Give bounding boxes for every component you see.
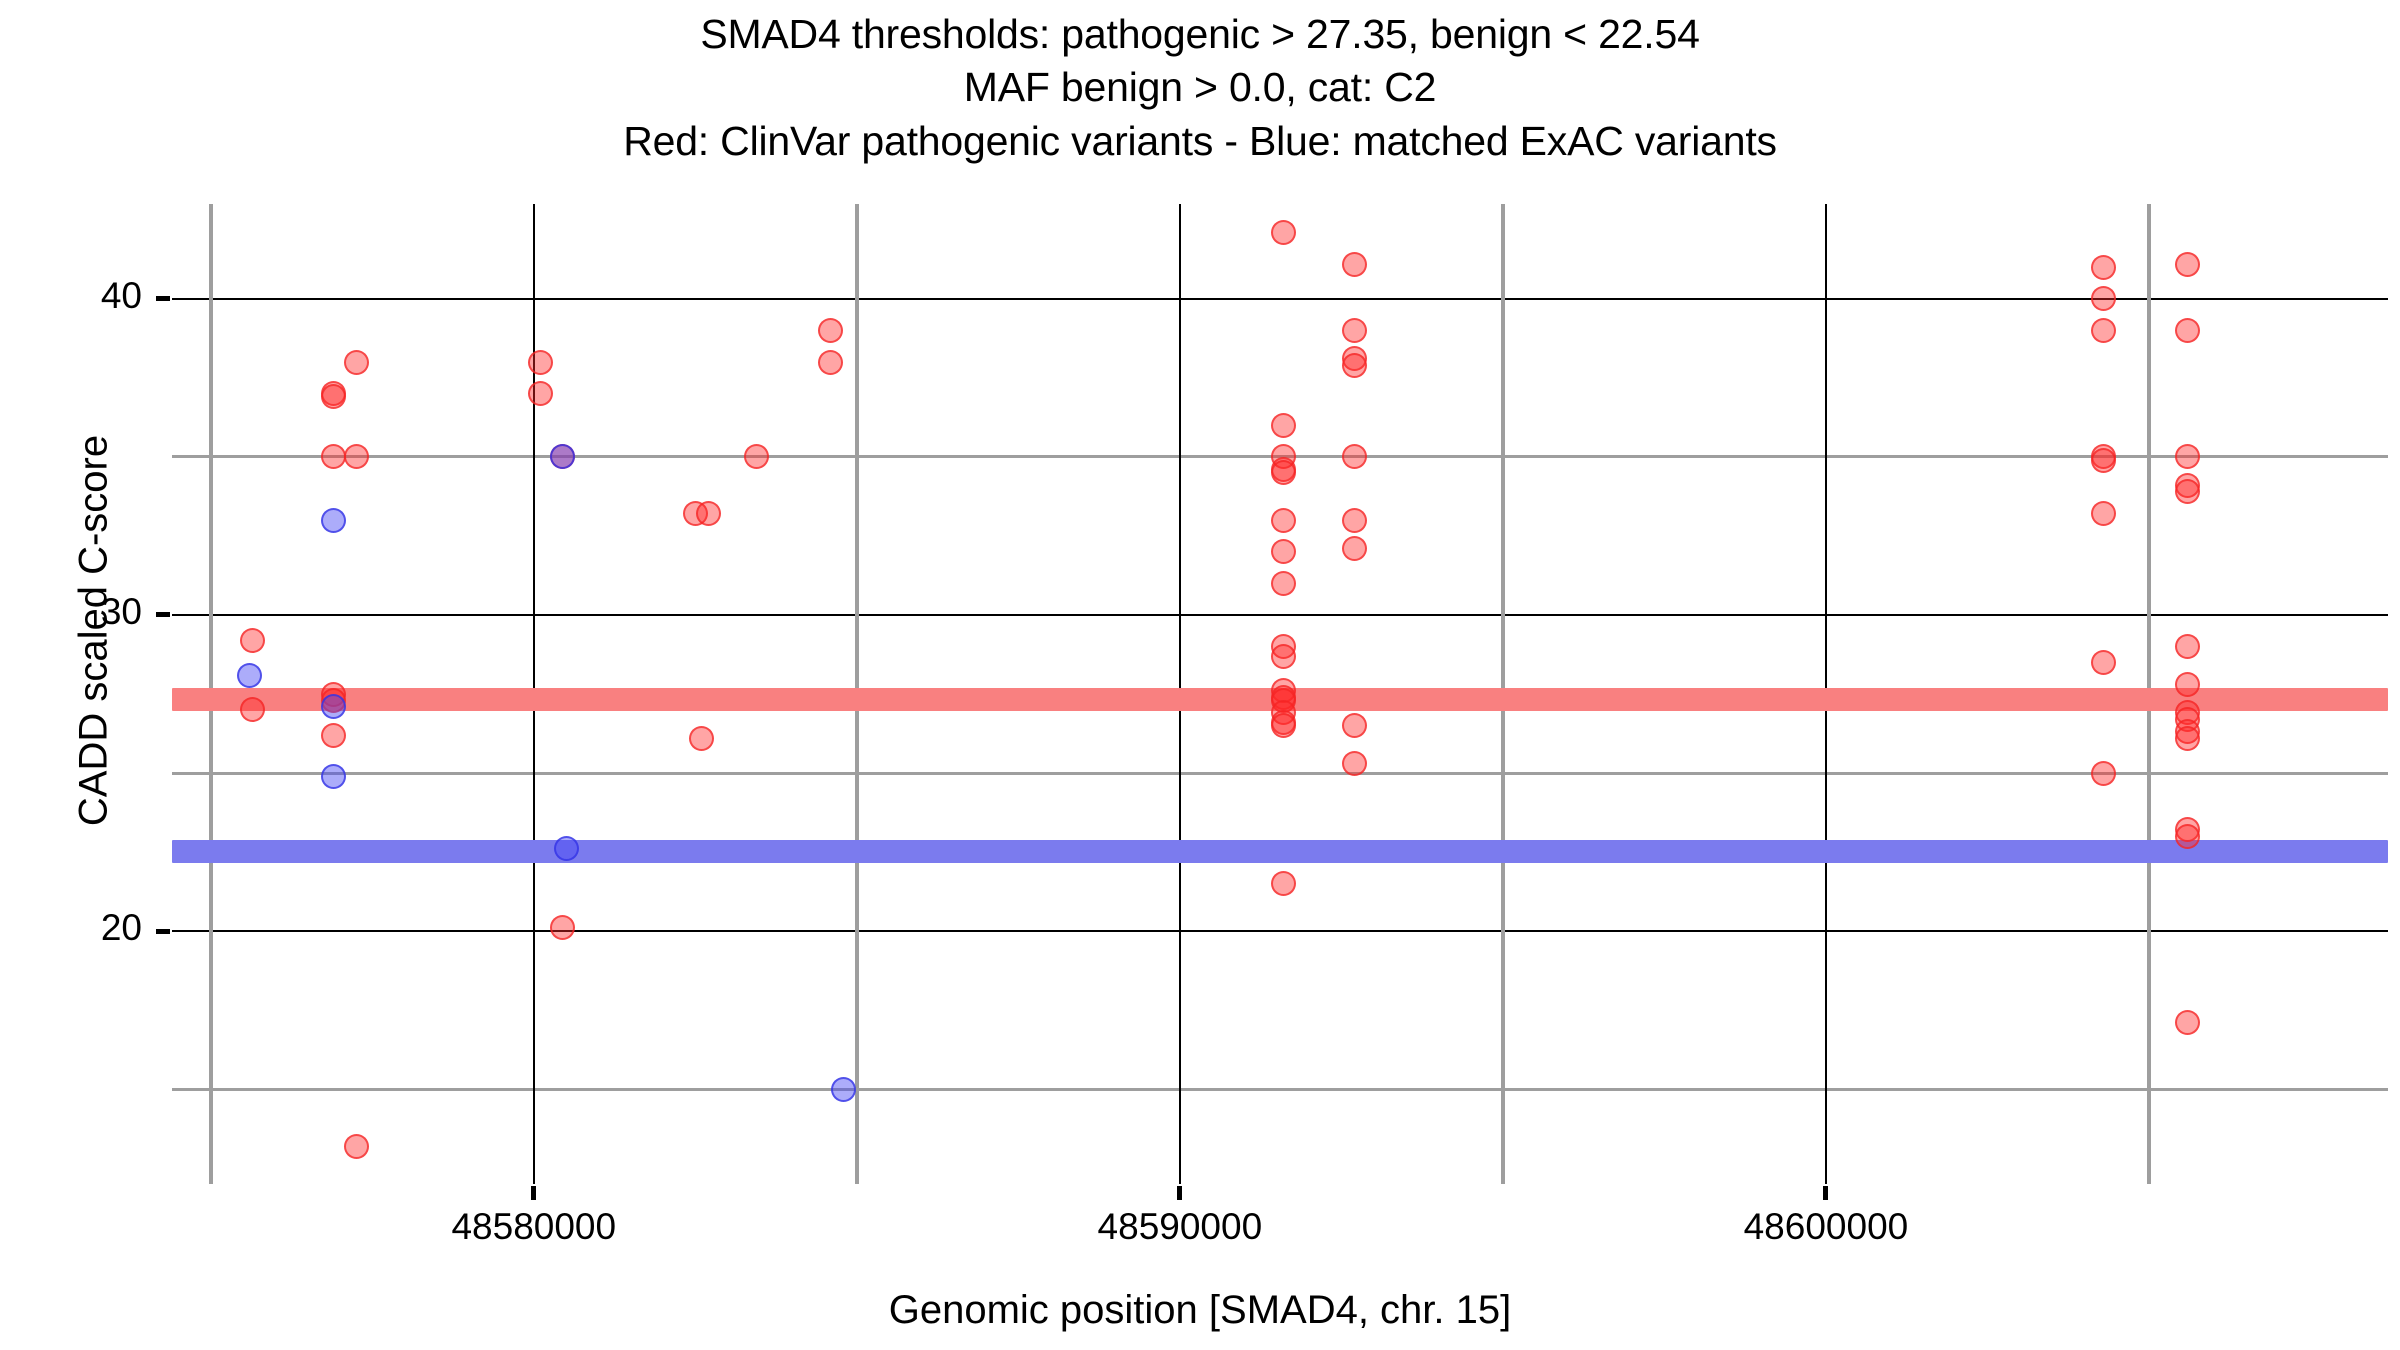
data-point-pathogenic[interactable] <box>1342 444 1367 469</box>
data-point-pathogenic[interactable] <box>1342 751 1367 776</box>
y-tick-label: 40 <box>0 275 142 317</box>
data-point-pathogenic[interactable] <box>2175 824 2200 849</box>
x-tick-mark <box>1177 1186 1182 1200</box>
y-tick-label: 20 <box>0 907 142 949</box>
data-point-pathogenic[interactable] <box>528 381 553 406</box>
gridline-major-y <box>172 614 2388 616</box>
y-tick-mark <box>156 612 170 617</box>
data-point-pathogenic[interactable] <box>1271 508 1296 533</box>
data-point-exac[interactable] <box>554 836 579 861</box>
data-point-pathogenic[interactable] <box>818 318 843 343</box>
data-point-pathogenic[interactable] <box>344 444 369 469</box>
data-point-exac[interactable] <box>321 694 346 719</box>
x-tick-label: 48580000 <box>374 1206 694 1248</box>
data-point-pathogenic[interactable] <box>2091 761 2116 786</box>
title-line-1: SMAD4 thresholds: pathogenic > 27.35, be… <box>0 8 2400 61</box>
y-tick-mark <box>156 929 170 934</box>
data-point-pathogenic[interactable] <box>744 444 769 469</box>
data-point-exac[interactable] <box>321 508 346 533</box>
data-point-pathogenic[interactable] <box>344 1134 369 1159</box>
data-point-exac[interactable] <box>550 444 575 469</box>
x-tick-label: 48600000 <box>1666 1206 1986 1248</box>
data-point-pathogenic[interactable] <box>1271 460 1296 485</box>
x-tick-mark <box>1823 1186 1828 1200</box>
data-point-pathogenic[interactable] <box>2175 318 2200 343</box>
data-point-pathogenic[interactable] <box>321 444 346 469</box>
data-point-pathogenic[interactable] <box>550 915 575 940</box>
data-point-pathogenic[interactable] <box>1271 713 1296 738</box>
gridline-minor-y <box>172 772 2388 775</box>
data-point-pathogenic[interactable] <box>1342 713 1367 738</box>
x-tick-label: 48590000 <box>1020 1206 1340 1248</box>
x-tick-mark <box>531 1186 536 1200</box>
data-point-pathogenic[interactable] <box>1271 413 1296 438</box>
data-point-pathogenic[interactable] <box>689 726 714 751</box>
x-axis-label: Genomic position [SMAD4, chr. 15] <box>0 1288 2400 1333</box>
data-point-pathogenic[interactable] <box>2175 479 2200 504</box>
data-point-exac[interactable] <box>321 764 346 789</box>
data-point-pathogenic[interactable] <box>1342 536 1367 561</box>
title-line-2: MAF benign > 0.0, cat: C2 <box>0 61 2400 114</box>
data-point-pathogenic[interactable] <box>1342 508 1367 533</box>
data-point-pathogenic[interactable] <box>528 350 553 375</box>
chart-figure: SMAD4 thresholds: pathogenic > 27.35, be… <box>0 0 2400 1350</box>
data-point-pathogenic[interactable] <box>818 350 843 375</box>
data-point-pathogenic[interactable] <box>2091 286 2116 311</box>
gridline-major-y <box>172 930 2388 932</box>
data-point-pathogenic[interactable] <box>1342 252 1367 277</box>
data-point-pathogenic[interactable] <box>696 501 721 526</box>
data-point-pathogenic[interactable] <box>1271 644 1296 669</box>
title-line-3: Red: ClinVar pathogenic variants - Blue:… <box>0 115 2400 168</box>
chart-title: SMAD4 thresholds: pathogenic > 27.35, be… <box>0 8 2400 168</box>
gridline-major-y <box>172 298 2388 300</box>
data-point-pathogenic[interactable] <box>344 350 369 375</box>
plot-area <box>172 204 2388 1184</box>
data-point-pathogenic[interactable] <box>2175 252 2200 277</box>
data-point-pathogenic[interactable] <box>2091 318 2116 343</box>
data-point-pathogenic[interactable] <box>2091 650 2116 675</box>
data-point-pathogenic[interactable] <box>240 628 265 653</box>
data-point-pathogenic[interactable] <box>1271 571 1296 596</box>
data-point-exac[interactable] <box>237 663 262 688</box>
data-point-pathogenic[interactable] <box>240 697 265 722</box>
y-tick-label: 30 <box>0 591 142 633</box>
y-tick-mark <box>156 296 170 301</box>
data-point-pathogenic[interactable] <box>2175 444 2200 469</box>
benign-threshold-band <box>172 840 2388 863</box>
data-point-pathogenic[interactable] <box>2091 255 2116 280</box>
data-point-pathogenic[interactable] <box>2175 634 2200 659</box>
data-point-exac[interactable] <box>831 1077 856 1102</box>
data-point-pathogenic[interactable] <box>1271 220 1296 245</box>
data-point-pathogenic[interactable] <box>1342 318 1367 343</box>
data-point-pathogenic[interactable] <box>1271 871 1296 896</box>
data-point-pathogenic[interactable] <box>1271 539 1296 564</box>
data-point-pathogenic[interactable] <box>2175 726 2200 751</box>
data-point-pathogenic[interactable] <box>321 384 346 409</box>
gridline-minor-y <box>172 1088 2388 1091</box>
data-point-pathogenic[interactable] <box>2175 1010 2200 1035</box>
data-point-pathogenic[interactable] <box>321 723 346 748</box>
data-point-pathogenic[interactable] <box>2091 448 2116 473</box>
data-point-pathogenic[interactable] <box>1342 353 1367 378</box>
data-point-pathogenic[interactable] <box>2091 501 2116 526</box>
